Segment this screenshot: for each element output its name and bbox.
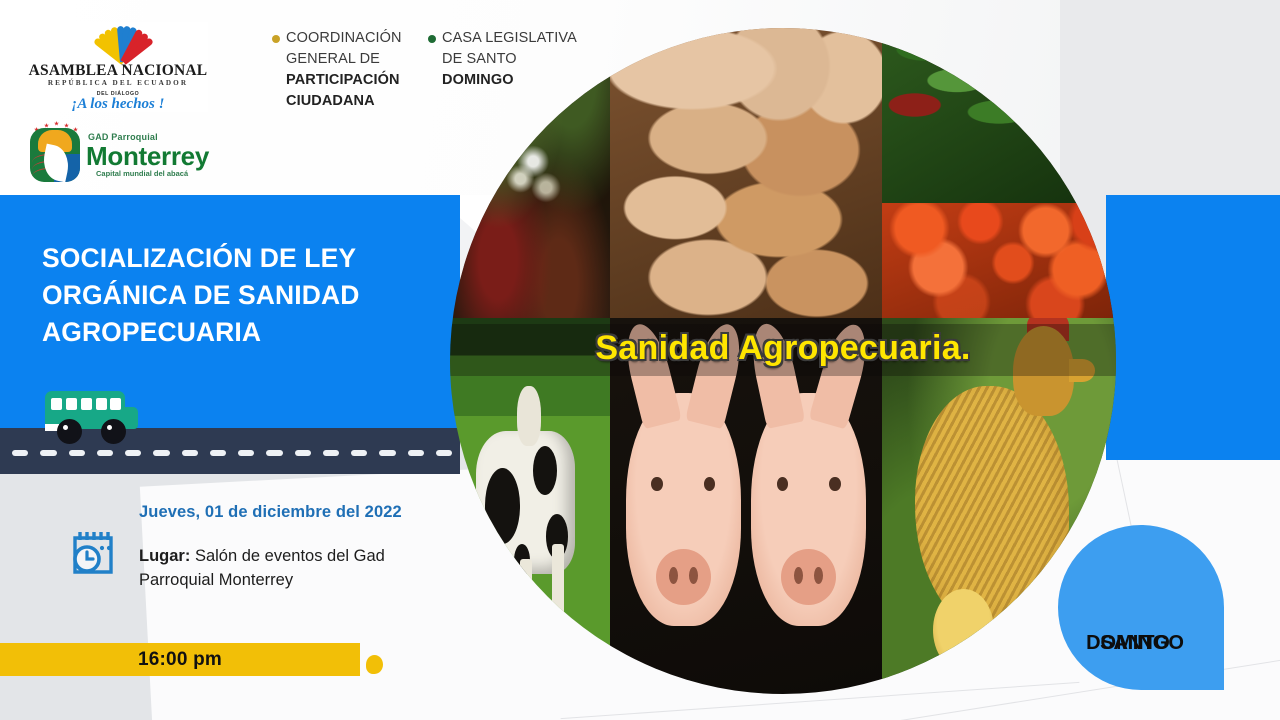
bus-icon <box>45 391 139 436</box>
collage-caption: Sanidad Agropecuaria. <box>450 329 1116 368</box>
asamblea-nacional-logo: ASAMBLEA NACIONAL REPÚBLICA DEL ECUADOR … <box>28 22 208 112</box>
monterrey-emblem-icon <box>30 128 80 182</box>
monterrey-name: Monterrey <box>86 141 209 172</box>
asamblea-slogan: ¡A los hechos ! <box>28 96 208 113</box>
event-place: Lugar: Salón de eventos del Gad Parroqui… <box>139 544 439 592</box>
feather-fan-icon <box>70 22 174 62</box>
bullet-dot-icon <box>428 35 436 43</box>
header-line: COORDINACIÓN <box>286 28 422 49</box>
event-place-label: Lugar: <box>139 547 190 565</box>
monterrey-tagline: Capital mundial del abacá <box>96 169 188 178</box>
crop-field-photo <box>450 28 610 318</box>
asamblea-subtitle: REPÚBLICA DEL ECUADOR <box>28 79 208 87</box>
header-line: CIUDADANA <box>286 91 422 112</box>
peppers-tomatoes-column <box>882 28 1116 318</box>
header-line: PARTICIPACIÓN <box>286 70 422 91</box>
time-bar-dot-icon <box>366 655 383 674</box>
page-title: SOCIALIZACIÓN DE LEY ORGÁNICA DE SANIDAD… <box>42 240 442 351</box>
event-poster: ASAMBLEA NACIONAL REPÚBLICA DEL ECUADOR … <box>0 0 1280 720</box>
potatoes-photo <box>610 28 882 318</box>
event-time: 16:00 pm <box>0 649 360 671</box>
event-date: Jueves, 01 de diciembre del 2022 <box>139 503 402 522</box>
photo-collage: Sanidad Agropecuaria. <box>450 28 1116 694</box>
calendar-clock-icon <box>66 526 120 580</box>
asamblea-name: ASAMBLEA NACIONAL <box>28 62 208 80</box>
bullet-dot-icon <box>272 35 280 43</box>
event-time-bar: 16:00 pm <box>0 643 360 676</box>
header-column-participacion: COORDINACIÓN GENERAL DE PARTICIPACIÓN CI… <box>272 28 422 112</box>
monterrey-logo: GAD Parroquial Monterrey Capital mundial… <box>26 122 211 184</box>
header-line: GENERAL DE <box>286 49 422 70</box>
blue-band-right <box>1106 195 1280 460</box>
